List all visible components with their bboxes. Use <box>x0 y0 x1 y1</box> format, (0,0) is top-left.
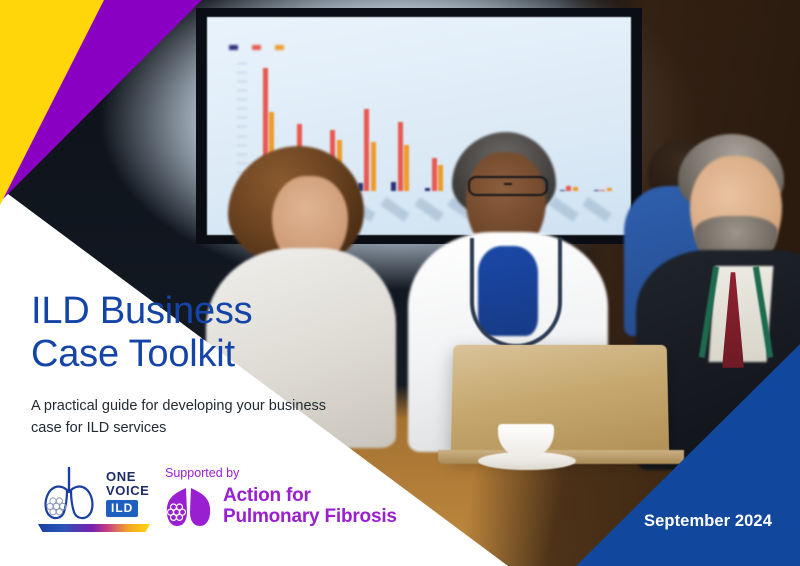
chart-bar <box>432 158 437 191</box>
chart-bar <box>573 187 578 191</box>
chart-bar <box>391 182 396 191</box>
apf-name-line-1: Action for <box>223 486 397 507</box>
chart-bar-group <box>420 63 449 191</box>
page-title: ILD Business Case Toolkit <box>31 290 361 377</box>
chart-bar <box>404 145 409 191</box>
chart-bar <box>560 190 565 191</box>
legend-item <box>275 45 284 50</box>
chart-bar <box>398 122 403 191</box>
lungs-outline-icon <box>36 464 102 522</box>
laptop <box>451 345 670 457</box>
chart-y-axis-label <box>221 125 227 126</box>
chart-bar <box>371 142 376 191</box>
apf-name: Action for Pulmonary Fibrosis <box>223 486 397 528</box>
chart-title <box>229 31 232 38</box>
brand-gradient-bar <box>38 524 150 532</box>
chart-bar <box>438 165 443 191</box>
chart-bar <box>425 188 430 191</box>
ild-badge: ILD <box>106 500 138 517</box>
chart-bar <box>364 109 369 191</box>
title-line-1: ILD Business <box>31 290 361 333</box>
one-voice-line-1: ONE <box>106 470 136 484</box>
chart-bar <box>566 186 571 191</box>
page-subtitle: A practical guide for developing your bu… <box>31 396 331 440</box>
chart-bar-group <box>386 63 415 191</box>
legend-item <box>229 45 238 50</box>
one-voice-ild-logo: ONE VOICE ILD <box>36 462 156 544</box>
apf-name-line-2: Pulmonary Fibrosis <box>223 507 397 528</box>
chart-bar-group <box>352 63 381 191</box>
legend-item <box>252 45 261 50</box>
stethoscope-icon <box>470 238 562 348</box>
eyeglasses-icon <box>468 176 548 196</box>
chart-bar <box>594 190 599 191</box>
title-line-2: Case Toolkit <box>31 333 361 376</box>
document-cover: ILD Business Case Toolkit A practical gu… <box>0 0 800 566</box>
chart-bar-group <box>555 63 584 191</box>
supported-by-label: Supported by <box>165 466 404 480</box>
chart-bar-group <box>588 63 617 191</box>
lungs-solid-icon <box>164 486 214 528</box>
chart-bar <box>607 188 612 191</box>
chart-bar <box>600 190 605 191</box>
apf-logo: Supported by Action for Pulmonary Fibros… <box>164 466 404 540</box>
chart-legend <box>229 45 284 50</box>
one-voice-line-2: VOICE <box>106 484 149 498</box>
publication-date: September 2024 <box>644 512 772 531</box>
